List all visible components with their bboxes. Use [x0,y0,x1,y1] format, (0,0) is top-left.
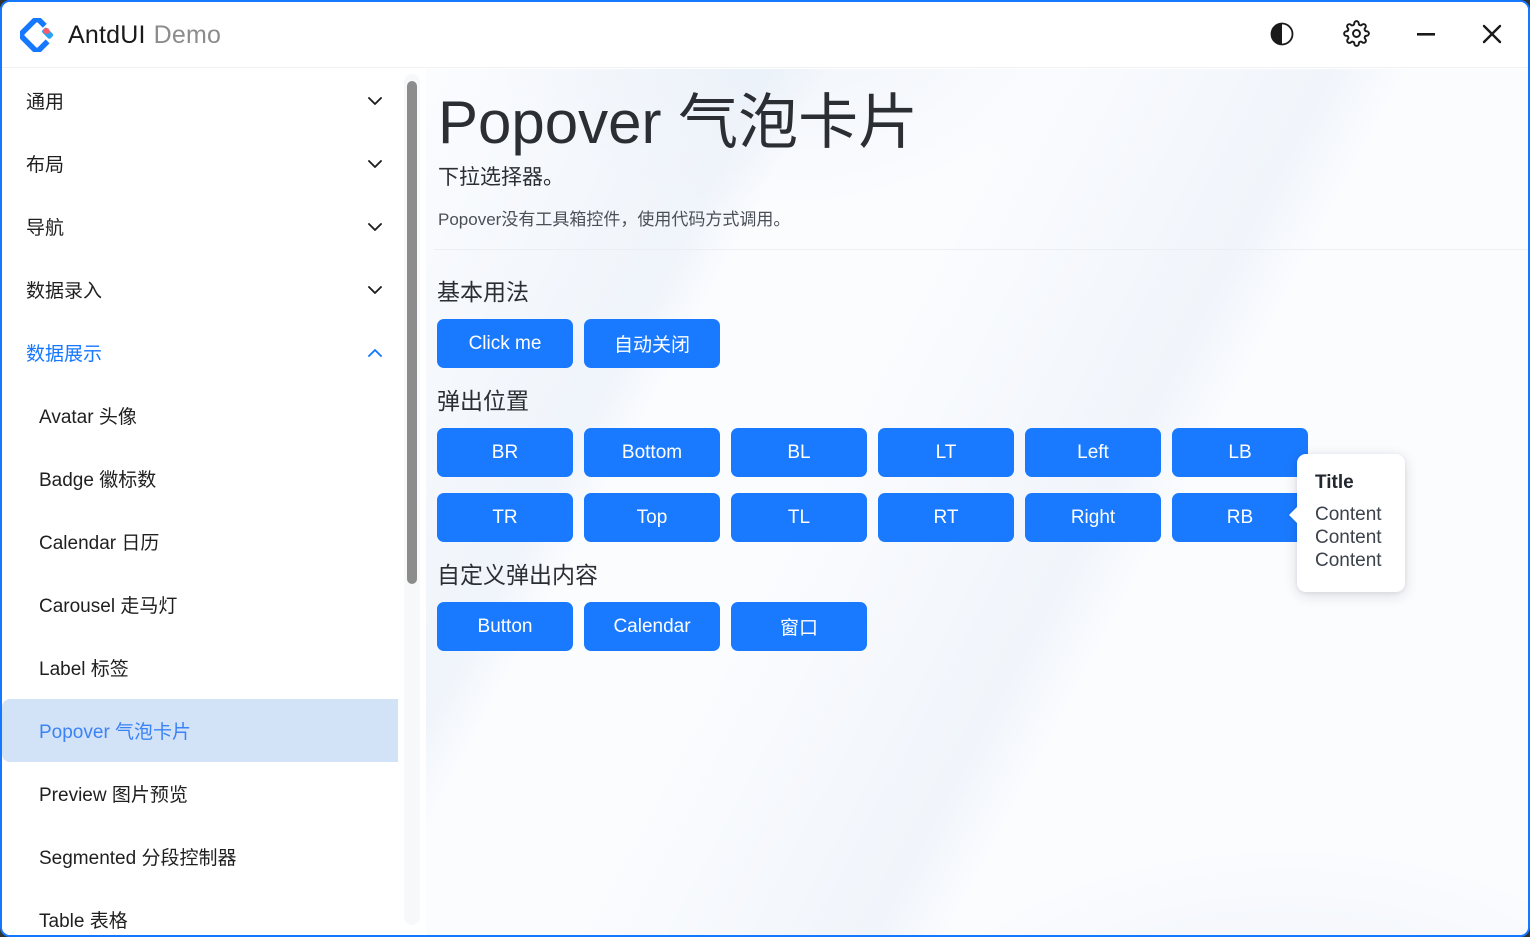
sidebar-item-badge[interactable]: Badge 徽标数 [2,447,398,510]
placement-button-bl[interactable]: BL [731,428,867,477]
auto-close-button[interactable]: 自动关闭 [584,319,720,368]
half-circle-icon [1269,21,1295,50]
popover-content-line: Content [1315,526,1389,549]
custom-button-button[interactable]: Button [437,602,573,651]
sidebar-group-label: 数据录入 [26,276,102,303]
sidebar-item-preview[interactable]: Preview 图片预览 [2,762,398,825]
close-icon [1477,19,1507,52]
sidebar-item-label: Avatar 头像 [39,402,137,429]
custom-button-calendar[interactable]: Calendar [584,602,720,651]
header-divider [434,249,1528,250]
theme-toggle-button[interactable] [1258,11,1306,59]
placement-button-bottom[interactable]: Bottom [584,428,720,477]
sidebar-group-label: 数据展示 [26,339,102,366]
placement-button-row-2: TR Top TL RT Right RB [437,493,1308,542]
placement-button-left[interactable]: Left [1025,428,1161,477]
sidebar-group-layout[interactable]: 布局 [2,132,398,195]
popover-arrow-icon [1289,506,1298,524]
sidebar-group-navigation[interactable]: 导航 [2,195,398,258]
placement-button-lt[interactable]: LT [878,428,1014,477]
sidebar-item-label: Segmented 分段控制器 [39,843,236,870]
settings-button[interactable] [1332,11,1380,59]
chevron-down-icon [366,92,384,110]
minimize-icon [1412,20,1440,51]
placement-button-rb[interactable]: RB [1172,493,1308,542]
chevron-down-icon [366,155,384,173]
sidebar-item-table[interactable]: Table 表格 [2,888,398,935]
sidebar-item-label: Calendar 日历 [39,528,159,555]
chevron-up-icon [366,344,384,362]
placement-button-lb[interactable]: LB [1172,428,1308,477]
sidebar-item-calendar[interactable]: Calendar 日历 [2,510,398,573]
chevron-down-icon [366,281,384,299]
custom-button-window[interactable]: 窗口 [731,602,867,651]
sidebar-item-label: Label 标签 [39,654,129,681]
custom-button-row: Button Calendar 窗口 [437,602,867,651]
placement-button-tl[interactable]: TL [731,493,867,542]
popover-content-line: Content [1315,549,1389,572]
sidebar-group-label: 导航 [26,213,64,240]
click-me-button[interactable]: Click me [437,319,573,368]
popover-title: Title [1315,472,1389,495]
section-title-placement: 弹出位置 [437,382,529,416]
sidebar-group-label: 通用 [26,87,64,114]
placement-button-br[interactable]: BR [437,428,573,477]
sidebar-item-label: Preview 图片预览 [39,780,188,807]
sidebar-item-label: Carousel 走马灯 [39,591,177,618]
application-window: AntdUIDemo [0,0,1530,937]
popover-card: Title Content Content Content [1297,454,1405,592]
placement-button-tr[interactable]: TR [437,493,573,542]
section-title-custom: 自定义弹出内容 [437,556,598,590]
brand: AntdUIDemo [20,2,221,68]
sidebar-item-segmented[interactable]: Segmented 分段控制器 [2,825,398,888]
brand-subtitle: Demo [154,21,222,49]
sidebar-group-label: 布局 [26,150,64,177]
popover-content-line: Content [1315,503,1389,526]
chevron-down-icon [366,218,384,236]
sidebar-menu: 通用 布局 导航 数据录入 [2,69,398,935]
main-content: Popover 气泡卡片 下拉选择器。 Popover没有工具箱控件，使用代码方… [426,69,1528,935]
sidebar-group-data-display[interactable]: 数据展示 [2,321,398,384]
sidebar-group-data-entry[interactable]: 数据录入 [2,258,398,321]
sidebar-item-avatar[interactable]: Avatar 头像 [2,384,398,447]
page-title: Popover 气泡卡片 [438,74,918,161]
brand-title: AntdUIDemo [68,21,221,50]
sidebar-item-carousel[interactable]: Carousel 走马灯 [2,573,398,636]
antdui-logo-icon [20,18,54,52]
page-description: Popover没有工具箱控件，使用代码方式调用。 [438,205,790,230]
sidebar: 通用 布局 导航 数据录入 [2,69,426,935]
basic-button-row: Click me 自动关闭 [437,319,720,368]
placement-button-rt[interactable]: RT [878,493,1014,542]
sidebar-item-label: Badge 徽标数 [39,465,156,492]
sidebar-group-general[interactable]: 通用 [2,69,398,132]
brand-name: AntdUI [68,21,146,49]
page-subtitle: 下拉选择器。 [438,161,564,191]
section-title-basic: 基本用法 [437,273,529,307]
minimize-button[interactable] [1402,11,1450,59]
sidebar-item-label: Table 表格 [39,906,128,933]
placement-button-top[interactable]: Top [584,493,720,542]
title-bar: AntdUIDemo [2,2,1528,68]
placement-button-row-1: BR Bottom BL LT Left LB [437,428,1308,477]
sidebar-item-label[interactable]: Label 标签 [2,636,398,699]
sidebar-item-label: Popover 气泡卡片 [39,717,191,744]
close-button[interactable] [1468,11,1516,59]
placement-button-right[interactable]: Right [1025,493,1161,542]
sidebar-scrollbar-thumb[interactable] [407,81,417,584]
gear-icon [1343,20,1370,50]
sidebar-item-popover[interactable]: Popover 气泡卡片 [2,699,398,762]
